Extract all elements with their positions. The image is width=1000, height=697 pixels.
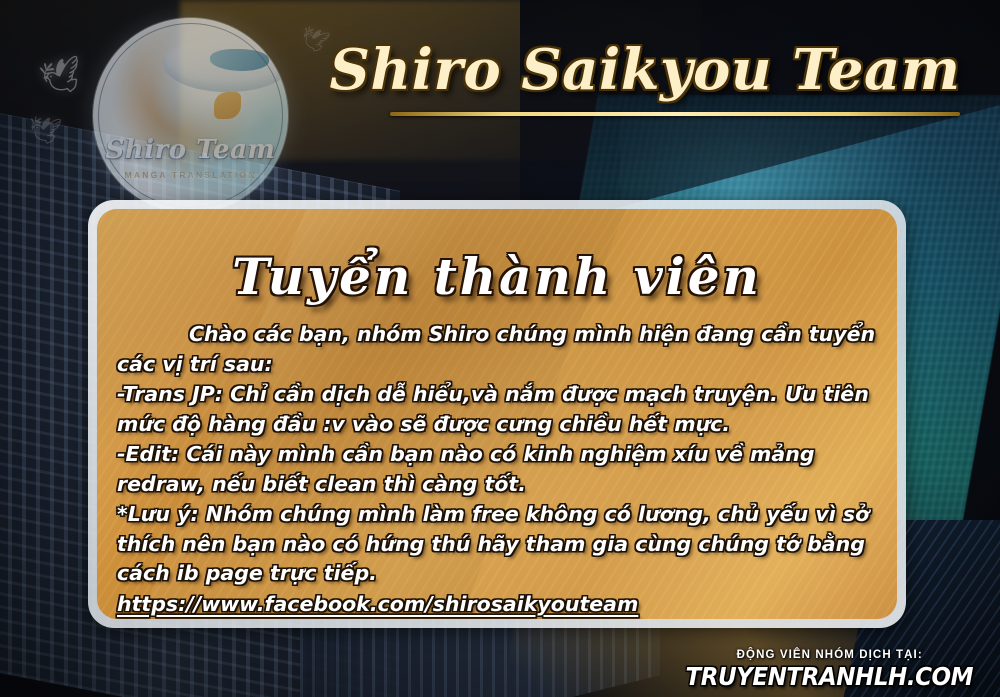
recruitment-panel: Tuyển thành viên Chào các bạn, nhóm Shir… — [88, 200, 906, 628]
body-line-edit: -Edit: Cái này mình cần bạn nào có kinh … — [117, 440, 883, 499]
panel-heading: Tuyển thành viên — [97, 247, 897, 306]
page-title: Shiro Saikyou Team — [300, 40, 990, 100]
logo-name: Shiro Team — [93, 135, 288, 165]
title-underline-rule — [390, 112, 960, 116]
footer-label: ĐỘNG VIÊN NHÓM DỊCH TẠI: — [673, 649, 986, 661]
recruitment-panel-inner: Tuyển thành viên Chào các bạn, nhóm Shir… — [97, 209, 897, 619]
logo-subtitle: MANGA TRANSLATION — [93, 170, 288, 180]
footer-site-name: TRUYENTRANHLH.COM — [686, 662, 974, 691]
body-line-trans: -Trans JP: Chỉ cần dịch dễ hiểu,và nắm đ… — [117, 380, 883, 439]
panel-body: Chào các bạn, nhóm Shiro chúng mình hiện… — [97, 320, 897, 619]
body-line-greeting: Chào các bạn, nhóm Shiro chúng mình hiện… — [117, 320, 883, 379]
logo-ring — [98, 23, 283, 208]
poster-page: 🕊 🕊 🕊 Shiro Team MANGA TRANSLATION Shiro… — [0, 0, 1000, 697]
body-line-note: *Lưu ý: Nhóm chúng mình làm free không c… — [117, 500, 883, 589]
team-logo: Shiro Team MANGA TRANSLATION — [93, 18, 288, 213]
footer-credit: ĐỘNG VIÊN NHÓM DỊCH TẠI: TRUYENTRANHLH.C… — [673, 649, 986, 691]
facebook-page-link[interactable]: https://www.facebook.com/shirosaikyoutea… — [117, 590, 638, 619]
